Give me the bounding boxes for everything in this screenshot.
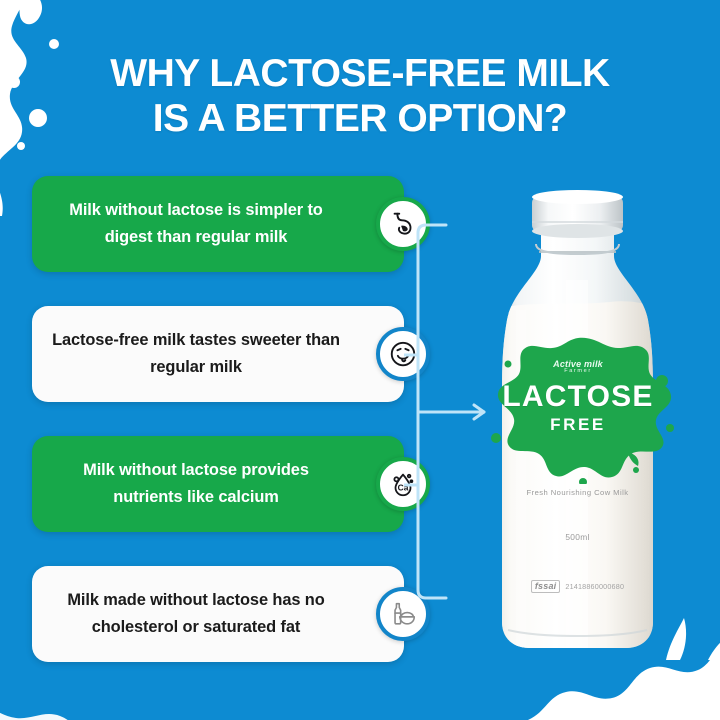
milk-splash-bottom-left-icon <box>0 660 120 720</box>
product-volume: 500ml <box>470 532 685 542</box>
benefit-card-text: Lactose-free milk tastes sweeter than re… <box>50 327 342 380</box>
fssai-license-number: 21418860000680 <box>565 582 624 591</box>
benefit-card-calcium[interactable]: Milk without lactose provides nutrients … <box>32 436 404 532</box>
benefit-card-digest[interactable]: Milk without lactose is simpler to diges… <box>32 176 404 272</box>
fssai-logo: fssai <box>531 580 561 593</box>
benefit-card-list: Milk without lactose is simpler to diges… <box>32 176 404 662</box>
fssai-block: fssai 21418860000680 <box>470 580 685 593</box>
benefit-card-text: Milk without lactose is simpler to diges… <box>50 197 342 250</box>
label-word-lactose: LACTOSE <box>478 382 678 412</box>
title-line-1: WHY LACTOSE-FREE MILK <box>110 52 609 95</box>
brand-sub: Farmer <box>478 369 678 375</box>
bottle-label-splat: Active milk Farmer LACTOSE FREE <box>478 334 678 484</box>
benefit-card-text: Milk made without lactose has no cholest… <box>50 587 342 640</box>
infographic-canvas: WHY LACTOSE-FREE MILK IS A BETTER OPTION… <box>0 0 720 720</box>
product-tagline: Fresh Nourishing Cow Milk <box>470 488 685 497</box>
title-line-2: IS A BETTER OPTION? <box>0 97 720 141</box>
benefit-card-text: Milk without lactose provides nutrients … <box>50 457 342 510</box>
page-title: WHY LACTOSE-FREE MILK IS A BETTER OPTION… <box>0 52 720 141</box>
label-word-free: FREE <box>478 416 678 433</box>
product-bottle: Active milk Farmer LACTOSE FREE Fresh No… <box>470 160 685 660</box>
benefit-card-cholesterol[interactable]: Milk made without lactose has no cholest… <box>32 566 404 662</box>
benefit-card-taste[interactable]: Lactose-free milk tastes sweeter than re… <box>32 306 404 402</box>
brand-logo: Active milk Farmer <box>478 360 678 375</box>
